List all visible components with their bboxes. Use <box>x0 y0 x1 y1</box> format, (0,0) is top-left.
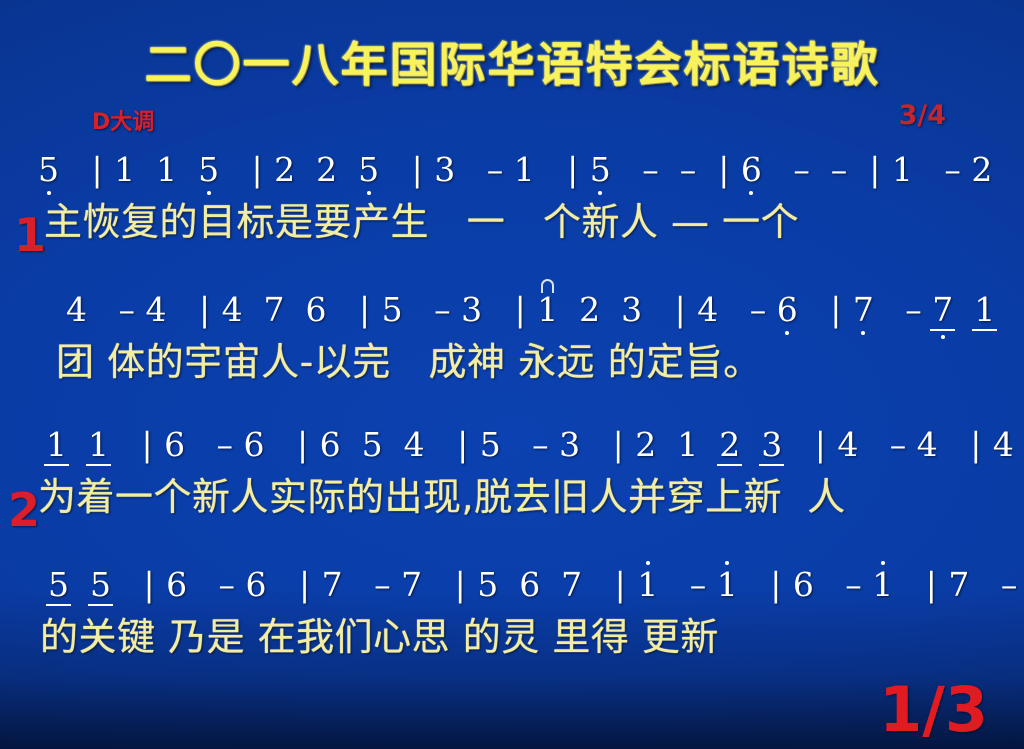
note-6: 6 <box>741 148 762 192</box>
note-7: 7 <box>401 563 422 607</box>
note-3: 3 <box>461 288 482 332</box>
barline: | <box>240 150 274 189</box>
note-dash: – <box>783 150 820 189</box>
note-gap <box>185 425 206 464</box>
note-gap <box>425 425 446 464</box>
note-gap <box>814 565 835 604</box>
note-gap <box>782 425 803 464</box>
note-gap <box>558 290 579 329</box>
note-7: 7 <box>561 563 582 607</box>
barline: | <box>803 425 837 464</box>
note-gap <box>482 290 503 329</box>
note-gap <box>738 565 759 604</box>
barline: | <box>959 425 993 464</box>
note-4: 4 <box>404 423 425 467</box>
note-gap <box>874 290 895 329</box>
note-4: 4 <box>697 288 718 332</box>
note-6: 6 <box>166 563 187 607</box>
note-gap <box>656 425 677 464</box>
barline: | <box>80 150 114 189</box>
barline: | <box>1016 290 1024 329</box>
music-system-1: 5 | 1 1 5 | 2 2 5 | 3 – 1 | 5 – – | 6 – … <box>0 148 1024 252</box>
lyrics-line-1: 主恢复的目标是要产生 一 个新人 — 一个 <box>0 196 1024 252</box>
note-gap <box>285 290 306 329</box>
note-1: 1 <box>114 148 135 192</box>
note-gap <box>341 425 362 464</box>
note-gap <box>135 150 156 189</box>
note-4: 4 <box>222 288 243 332</box>
note-gap <box>698 425 719 464</box>
barline: | <box>663 290 697 329</box>
note-4: 4 <box>66 288 87 332</box>
note-5: 5 <box>38 148 59 192</box>
note-dash: – <box>835 565 872 604</box>
music-system-2: 4 – 4 | 4 7 6 | 5 – 3 | 1 2 3 | 4 – 6 | … <box>0 288 1024 392</box>
note-1: 1 <box>46 423 67 467</box>
note-7: 7 <box>932 288 953 332</box>
barline: | <box>759 565 793 604</box>
barline: | <box>503 290 537 329</box>
note-gap <box>893 565 914 604</box>
note-dash: – <box>632 150 669 189</box>
note-gap <box>243 290 264 329</box>
slide-canvas: 二〇一八年国际华语特会标语诗歌 D大调 3/4 1 2 5 | 1 1 5 | … <box>0 0 1024 749</box>
note-7: 7 <box>853 288 874 332</box>
notation-line-3: 1 1 | 6 – 6 | 6 5 4 | 5 – 3 | 2 1 2 3 | … <box>0 423 1024 471</box>
note-5: 5 <box>382 288 403 332</box>
note-5: 5 <box>48 563 69 607</box>
note-1: 1 <box>637 563 658 607</box>
note-dash: – <box>679 565 716 604</box>
barline: | <box>914 565 948 604</box>
note-5: 5 <box>477 563 498 607</box>
note-gap <box>219 150 240 189</box>
note-gap <box>740 425 761 464</box>
note-gap <box>582 565 603 604</box>
note-3: 3 <box>761 423 782 467</box>
lyrics-line-3: 为着一个新人实际的出现,脱去旧人并穿上新 人 <box>0 471 1024 527</box>
note-gap <box>111 565 132 604</box>
note-gap <box>995 290 1016 329</box>
note-gap <box>953 290 974 329</box>
note-gap <box>455 150 476 189</box>
key-signature-label: D大调 <box>92 104 154 136</box>
note-6: 6 <box>793 563 814 607</box>
note-dash: – <box>206 425 243 464</box>
note-gap <box>762 150 783 189</box>
barline: | <box>1013 150 1024 189</box>
note-gap <box>580 425 601 464</box>
note-gap <box>87 290 108 329</box>
note-1: 1 <box>974 288 995 332</box>
barline: | <box>132 565 166 604</box>
note-dash: – <box>990 565 1024 604</box>
note-gap <box>642 290 663 329</box>
note-gap <box>540 565 561 604</box>
note-gap <box>718 290 739 329</box>
note-gap <box>658 565 679 604</box>
note-dash: – <box>424 290 461 329</box>
note-6: 6 <box>164 423 185 467</box>
note-gap <box>267 565 288 604</box>
note-1: 1 <box>892 148 913 192</box>
note-6: 6 <box>519 563 540 607</box>
lyrics-line-4: 的关键 乃是 在我们心思 的灵 里得 更新 <box>0 611 1024 667</box>
note-dash: – <box>522 425 559 464</box>
note-4: 4 <box>917 423 938 467</box>
note-4: 4 <box>837 423 858 467</box>
note-5: 5 <box>590 148 611 192</box>
tie-arc: 1 <box>537 288 558 332</box>
note-2: 2 <box>719 423 740 467</box>
note-gap <box>67 425 88 464</box>
note-gap <box>1014 425 1024 464</box>
note-7: 7 <box>948 563 969 607</box>
barline: | <box>286 425 320 464</box>
barline: | <box>556 150 590 189</box>
note-gap <box>858 425 879 464</box>
note-2: 2 <box>579 288 600 332</box>
note-2: 2 <box>635 423 656 467</box>
note-5: 5 <box>198 148 219 192</box>
note-6: 6 <box>244 423 265 467</box>
barline: | <box>858 150 892 189</box>
note-1: 1 <box>537 288 558 332</box>
page-title: 二〇一八年国际华语特会标语诗歌 <box>0 26 1024 95</box>
note-7: 7 <box>322 563 343 607</box>
note-dash: – <box>476 150 513 189</box>
note-3: 3 <box>559 423 580 467</box>
note-7: 7 <box>264 288 285 332</box>
note-1: 1 <box>156 148 177 192</box>
barline: | <box>348 290 382 329</box>
note-gap <box>379 150 400 189</box>
note-gap <box>498 565 519 604</box>
barline: | <box>603 565 637 604</box>
music-system-3: 1 1 | 6 – 6 | 6 5 4 | 5 – 3 | 2 1 2 3 | … <box>0 423 1024 527</box>
note-dash: – <box>208 565 245 604</box>
note-gap <box>177 150 198 189</box>
note-gap <box>992 150 1013 189</box>
note-4: 4 <box>993 423 1014 467</box>
lyrics-line-2: 团 体的宇宙人-以完 成神 永远 的定旨。 <box>0 336 1024 392</box>
note-gap <box>535 150 556 189</box>
note-gap <box>327 290 348 329</box>
note-gap <box>187 565 208 604</box>
barline: | <box>443 565 477 604</box>
note-gap <box>295 150 316 189</box>
note-gap <box>969 565 990 604</box>
barline: | <box>446 425 480 464</box>
note-dash: – <box>934 150 971 189</box>
note-gap <box>59 150 80 189</box>
barline: | <box>601 425 635 464</box>
note-3: 3 <box>434 148 455 192</box>
note-gap <box>69 565 90 604</box>
note-gap <box>265 425 286 464</box>
note-6: 6 <box>320 423 341 467</box>
note-dash: – <box>364 565 401 604</box>
note-3: 3 <box>621 288 642 332</box>
note-dash: – <box>820 150 857 189</box>
note-gap <box>913 150 934 189</box>
note-gap <box>501 425 522 464</box>
note-gap <box>166 290 187 329</box>
note-dash: – <box>108 290 145 329</box>
note-1: 1 <box>677 423 698 467</box>
note-gap <box>337 150 358 189</box>
note-5: 5 <box>480 423 501 467</box>
page-indicator: 1/3 <box>879 679 988 741</box>
note-6: 6 <box>246 563 267 607</box>
note-5: 5 <box>90 563 111 607</box>
barline: | <box>707 150 741 189</box>
note-6: 6 <box>306 288 327 332</box>
music-system-4: 5 5 | 6 – 6 | 7 – 7 | 5 6 7 | 1 – 1 | 6 … <box>0 563 1024 667</box>
note-gap <box>343 565 364 604</box>
note-gap <box>383 425 404 464</box>
barline: | <box>288 565 322 604</box>
note-gap <box>403 290 424 329</box>
note-gap <box>109 425 130 464</box>
barline: | <box>819 290 853 329</box>
note-5: 5 <box>358 148 379 192</box>
barline: | <box>400 150 434 189</box>
note-dash: – <box>669 150 706 189</box>
note-4: 4 <box>145 288 166 332</box>
note-gap <box>938 425 959 464</box>
note-dash: – <box>895 290 932 329</box>
note-5: 5 <box>362 423 383 467</box>
note-1: 1 <box>872 563 893 607</box>
note-1: 1 <box>514 148 535 192</box>
notation-line-2: 4 – 4 | 4 7 6 | 5 – 3 | 1 2 3 | 4 – 6 | … <box>0 288 1024 336</box>
time-signature-label: 3/4 <box>899 100 946 131</box>
note-2: 2 <box>274 148 295 192</box>
note-gap <box>798 290 819 329</box>
note-6: 6 <box>777 288 798 332</box>
barline: | <box>130 425 164 464</box>
notation-line-1: 5 | 1 1 5 | 2 2 5 | 3 – 1 | 5 – – | 6 – … <box>0 148 1024 196</box>
note-2: 2 <box>971 148 992 192</box>
note-2: 2 <box>316 148 337 192</box>
note-gap <box>611 150 632 189</box>
note-dash: – <box>739 290 776 329</box>
note-1: 1 <box>717 563 738 607</box>
note-dash: – <box>879 425 916 464</box>
note-1: 1 <box>88 423 109 467</box>
note-gap <box>422 565 443 604</box>
note-gap <box>600 290 621 329</box>
barline: | <box>187 290 221 329</box>
notation-line-4: 5 5 | 6 – 6 | 7 – 7 | 5 6 7 | 1 – 1 | 6 … <box>0 563 1024 611</box>
